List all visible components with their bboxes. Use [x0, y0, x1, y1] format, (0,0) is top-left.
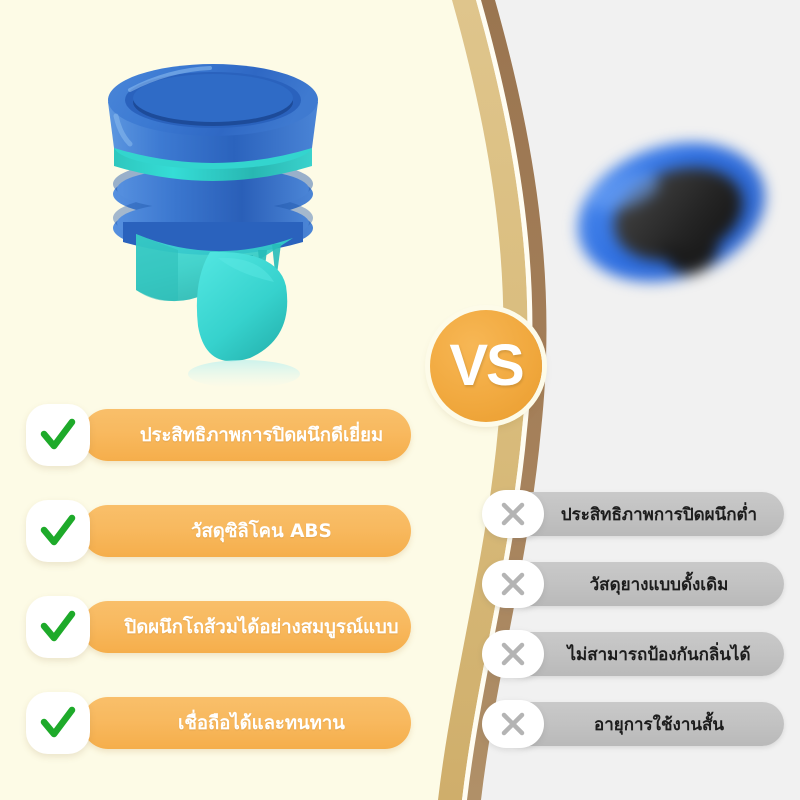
pros-list-item[interactable]: วัสดุซิลิโคน ABS	[26, 500, 411, 560]
pros-label: เชื่อถือได้และทนทาน	[178, 709, 345, 738]
check-icon	[38, 703, 78, 743]
right-product-image	[556, 108, 788, 320]
cross-badge	[482, 560, 544, 608]
pros-list-item[interactable]: ปิดผนึกโถส้วมได้อย่างสมบูรณ์แบบ	[26, 596, 411, 656]
check-icon	[38, 607, 78, 647]
cons-list: ประสิทธิภาพการปิดผนึกต่ำ วัสดุยางแบบดั้ง…	[482, 490, 784, 748]
pros-label: ปิดผนึกโถส้วมได้อย่างสมบูรณ์แบบ	[125, 613, 399, 642]
cross-icon	[498, 709, 528, 739]
left-product-image	[78, 42, 348, 392]
cross-badge	[482, 490, 544, 538]
pros-label: วัสดุซิลิโคน ABS	[191, 517, 332, 546]
pros-pill[interactable]: ปิดผนึกโถส้วมได้อย่างสมบูรณ์แบบ	[82, 601, 411, 653]
cons-label: อายุการใช้งานสั้น	[594, 711, 724, 738]
pros-pill[interactable]: ประสิทธิภาพการปิดผนึกดีเยี่ยม	[82, 409, 411, 461]
check-badge	[26, 500, 90, 562]
cross-icon	[498, 499, 528, 529]
cross-icon	[498, 639, 528, 669]
cons-list-item[interactable]: อายุการใช้งานสั้น	[482, 700, 784, 748]
check-badge	[26, 596, 90, 658]
pros-list-item[interactable]: ประสิทธิภาพการปิดผนึกดีเยี่ยม	[26, 404, 411, 464]
rubber-ring-illustration	[556, 108, 788, 320]
cons-label: วัสดุยางแบบดั้งเดิม	[590, 571, 729, 598]
cons-list-item[interactable]: ไม่สามารถป้องกันกลิ่นได้	[482, 630, 784, 678]
cons-label: ประสิทธิภาพการปิดผนึกต่ำ	[561, 501, 757, 528]
cons-pill[interactable]: วัสดุยางแบบดั้งเดิม	[504, 562, 784, 606]
pros-label: ประสิทธิภาพการปิดผนึกดีเยี่ยม	[140, 421, 383, 450]
vs-badge: VS	[430, 310, 542, 422]
pros-list-item[interactable]: เชื่อถือได้และทนทาน	[26, 692, 411, 752]
pros-list: ประสิทธิภาพการปิดผนึกดีเยี่ยม วัสดุซิลิโ…	[26, 404, 411, 752]
cons-list-item[interactable]: วัสดุยางแบบดั้งเดิม	[482, 560, 784, 608]
vs-label: VS	[449, 337, 522, 395]
check-icon	[38, 415, 78, 455]
cross-icon	[498, 569, 528, 599]
check-icon	[38, 511, 78, 551]
pros-pill[interactable]: วัสดุซิลิโคน ABS	[82, 505, 411, 557]
cons-list-item[interactable]: ประสิทธิภาพการปิดผนึกต่ำ	[482, 490, 784, 538]
cross-badge	[482, 700, 544, 748]
cons-label: ไม่สามารถป้องกันกลิ่นได้	[568, 641, 751, 668]
cons-pill[interactable]: ประสิทธิภาพการปิดผนึกต่ำ	[504, 492, 784, 536]
cons-pill[interactable]: อายุการใช้งานสั้น	[504, 702, 784, 746]
silicone-valve-illustration	[78, 42, 348, 392]
check-badge	[26, 404, 90, 466]
cons-pill[interactable]: ไม่สามารถป้องกันกลิ่นได้	[504, 632, 784, 676]
comparison-infographic: VS ประสิทธิภาพการปิดผนึกดีเยี่ยม วัสดุซิ…	[0, 0, 800, 800]
pros-pill[interactable]: เชื่อถือได้และทนทาน	[82, 697, 411, 749]
cross-badge	[482, 630, 544, 678]
check-badge	[26, 692, 90, 754]
